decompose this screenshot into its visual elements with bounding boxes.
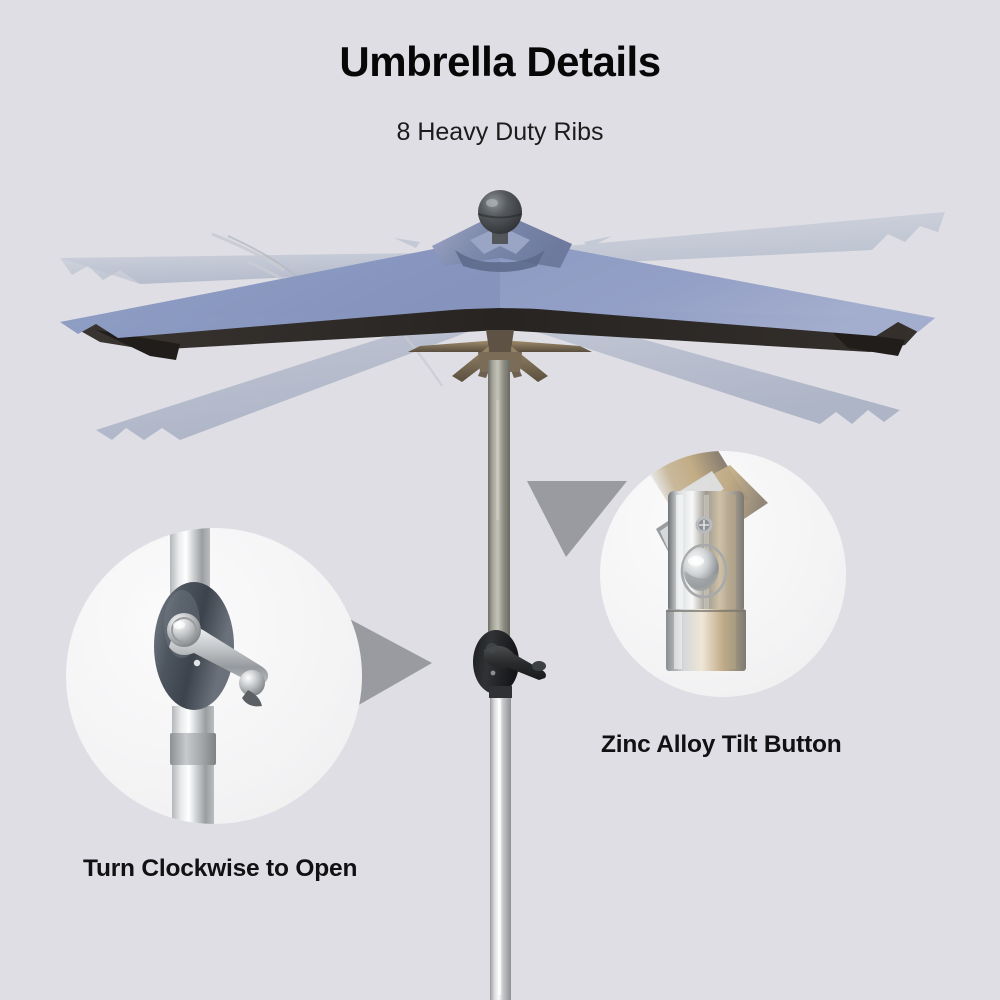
zinc-alloy-tilt-button-detail: [600, 451, 846, 697]
callout-circle-tilt-button: [600, 451, 846, 697]
callout-label-crank-handle: Turn Clockwise to Open: [83, 855, 357, 883]
page-title: Umbrella Details: [0, 38, 1000, 86]
umbrella-illustration: [0, 0, 1000, 1000]
crank-handle-detail: [66, 528, 362, 824]
crank-handle-on-pole: [473, 630, 546, 694]
callout-circle-crank-handle: [66, 528, 362, 824]
page-subtitle: 8 Heavy Duty Ribs: [0, 118, 1000, 147]
product-infographic: Umbrella Details 8 Heavy Duty Ribs Turn …: [0, 0, 1000, 1000]
callout-label-tilt-button: Zinc Alloy Tilt Button: [601, 731, 842, 759]
